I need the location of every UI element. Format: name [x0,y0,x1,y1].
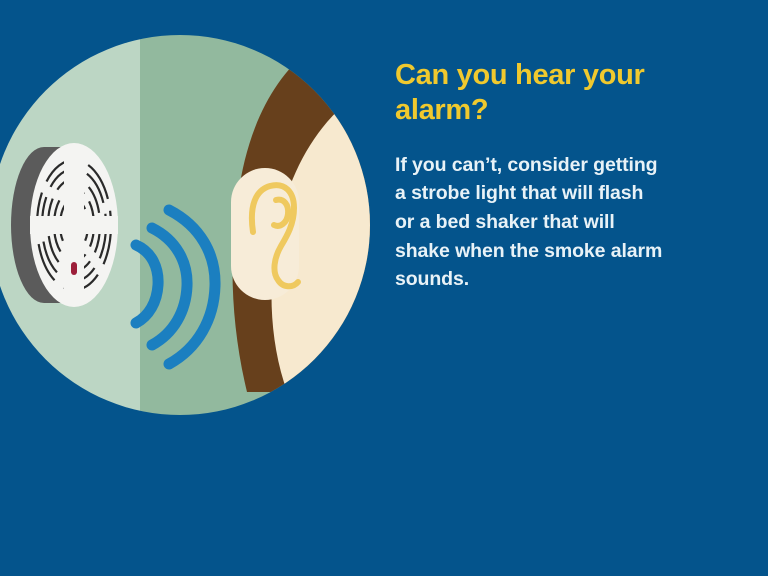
footer: U.S. Fire Administration [0,480,768,576]
message-block: Can you hear your alarm? If you can’t, c… [395,58,735,294]
smoke-alarm [11,143,118,307]
illustration [0,0,400,440]
body-copy: If you can’t, consider getting a strobe … [395,151,735,294]
headline: Can you hear your alarm? [395,58,735,129]
alarm-horizontal-bar [30,216,118,234]
poster-canvas: Can you hear your alarm? If you can’t, c… [0,0,768,576]
illustration-svg [0,0,400,440]
alarm-led [71,262,77,275]
